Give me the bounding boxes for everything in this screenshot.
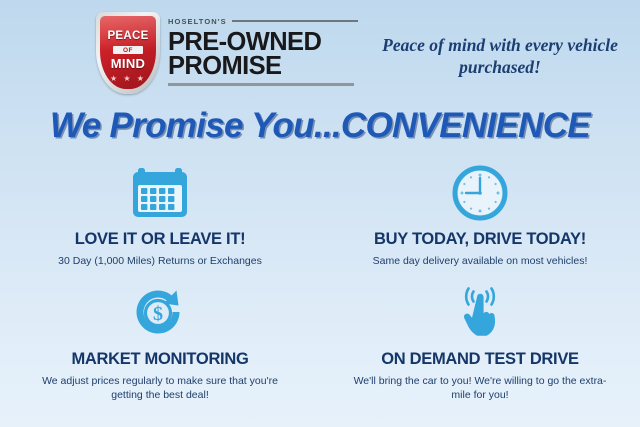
calendar-icon (0, 160, 320, 226)
shield-text-peace: PEACE (100, 30, 156, 42)
header-tagline: Peace of mind with every vehicle purchas… (378, 34, 622, 79)
promise-title: BUY TODAY, DRIVE TODAY! (320, 230, 640, 249)
promise-poster: PEACE OF MIND ★ ★ ★ HOSELTON'S PRE-OWNED… (0, 0, 640, 427)
shield-stars: ★ ★ ★ (100, 74, 156, 83)
promise-subtitle: Same day delivery available on most vehi… (320, 254, 640, 268)
wordmark: HOSELTON'S PRE-OWNED PROMISE (168, 12, 358, 86)
promise-title: ON DEMAND TEST DRIVE (320, 350, 640, 369)
tap-hand-icon (320, 280, 640, 346)
promises-grid: LOVE IT OR LEAVE IT! 30 Day (1,000 Miles… (0, 156, 640, 403)
brand-line: HOSELTON'S (168, 14, 358, 28)
promise-card-market-monitoring: $ MARKET MONITORING We adjust prices reg… (0, 268, 320, 402)
promise-card-love-it-or-leave-it: LOVE IT OR LEAVE IT! 30 Day (1,000 Miles… (0, 156, 320, 268)
promise-card-on-demand-test-drive: ON DEMAND TEST DRIVE We'll bring the car… (320, 268, 640, 402)
promise-subtitle: We adjust prices regularly to make sure … (0, 374, 320, 402)
promise-title: LOVE IT OR LEAVE IT! (0, 230, 320, 249)
poster-header: PEACE OF MIND ★ ★ ★ HOSELTON'S PRE-OWNED… (0, 8, 640, 104)
svg-text:$: $ (153, 303, 163, 325)
promise-title: MARKET MONITORING (0, 350, 320, 369)
wordmark-underline (168, 83, 354, 86)
peace-of-mind-shield-icon: PEACE OF MIND ★ ★ ★ (96, 12, 164, 100)
promises-row-2: $ MARKET MONITORING We adjust prices reg… (0, 268, 640, 402)
promises-row-1: LOVE IT OR LEAVE IT! 30 Day (1,000 Miles… (0, 156, 640, 268)
price-refresh-dollar-icon: $ (0, 280, 320, 346)
brand-name: HOSELTON'S (168, 17, 227, 26)
promise-card-buy-today-drive-today: BUY TODAY, DRIVE TODAY! Same day deliver… (320, 156, 640, 268)
brand-lockup: PEACE OF MIND ★ ★ ★ HOSELTON'S PRE-OWNED… (96, 12, 358, 104)
promise-subtitle: 30 Day (1,000 Miles) Returns or Exchange… (0, 254, 320, 268)
page-title: We Promise You...CONVENIENCE (0, 106, 640, 146)
shield-text-mind: MIND (100, 56, 156, 71)
brand-rule (232, 20, 358, 22)
shield-text-of: OF (100, 46, 156, 54)
clock-icon (320, 160, 640, 226)
wordmark-line-2: PROMISE (168, 55, 358, 78)
promise-subtitle: We'll bring the car to you! We're willin… (320, 374, 640, 402)
wordmark-line-1: PRE-OWNED (168, 31, 358, 54)
